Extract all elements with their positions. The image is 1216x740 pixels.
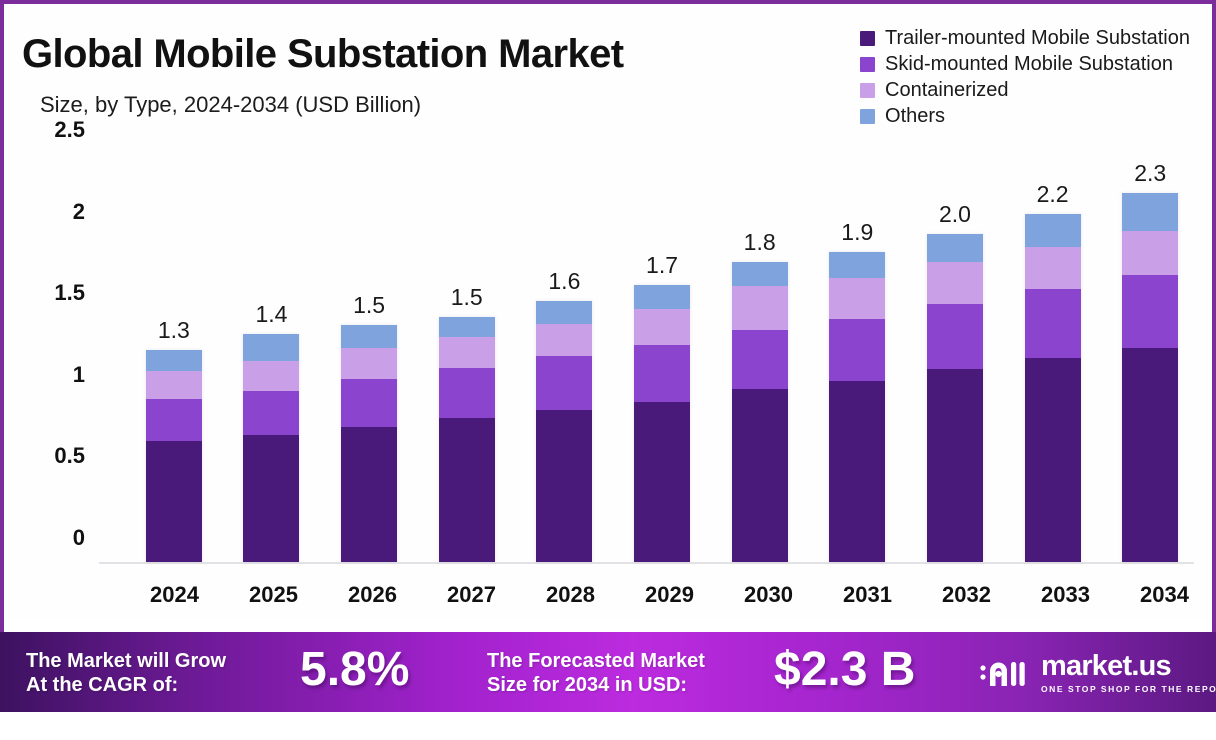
plot-area: 00.511.522.5 1.31.41.51.51.61.71.81.92.0… bbox=[99, 144, 1199, 564]
bar-segment[interactable] bbox=[1122, 193, 1178, 231]
bar-segment[interactable] bbox=[243, 435, 299, 562]
x-axis-label: 2028 bbox=[521, 582, 620, 608]
bar-segment[interactable] bbox=[341, 427, 397, 562]
legend-item-label: Others bbox=[885, 106, 945, 126]
bar-segment[interactable] bbox=[634, 285, 690, 309]
logo-name: market.us bbox=[1041, 652, 1171, 681]
x-axis-label: 2033 bbox=[1016, 582, 1115, 608]
bar-segment[interactable] bbox=[341, 348, 397, 379]
bar-segment[interactable] bbox=[927, 369, 983, 562]
legend-item[interactable]: Containerized bbox=[860, 80, 1008, 100]
stacked-bar[interactable] bbox=[1025, 214, 1081, 562]
bar-segment[interactable] bbox=[829, 252, 885, 278]
legend-swatch-icon bbox=[860, 31, 875, 46]
bar-segment[interactable] bbox=[146, 371, 202, 399]
chart-subtitle: Size, by Type, 2024-2034 (USD Billion) bbox=[40, 92, 421, 118]
cagr-label: The Market will Grow At the CAGR of: bbox=[26, 650, 226, 697]
bar-slot: 1.7 bbox=[613, 144, 711, 562]
bar-segment[interactable] bbox=[341, 379, 397, 426]
bar-segment[interactable] bbox=[146, 399, 202, 441]
bar-segment[interactable] bbox=[927, 304, 983, 369]
x-axis-label: 2027 bbox=[422, 582, 521, 608]
legend-item[interactable]: Others bbox=[860, 106, 945, 126]
market-us-logo[interactable]: market.us ONE STOP SHOP FOR THE REPORTS bbox=[978, 652, 1216, 694]
bar-segment[interactable] bbox=[634, 402, 690, 562]
bar-segment[interactable] bbox=[634, 345, 690, 402]
bar-slot: 2.2 bbox=[1004, 144, 1102, 562]
bar-segment[interactable] bbox=[439, 317, 495, 337]
bar-segment[interactable] bbox=[146, 441, 202, 562]
bar-segment[interactable] bbox=[1025, 247, 1081, 289]
bar-segment[interactable] bbox=[439, 418, 495, 562]
bar-segment[interactable] bbox=[439, 337, 495, 368]
bar-segment[interactable] bbox=[1025, 358, 1081, 562]
bar-total-label: 1.7 bbox=[646, 252, 678, 279]
bar-segment[interactable] bbox=[341, 325, 397, 348]
bar-segment[interactable] bbox=[1025, 289, 1081, 358]
bar-segment[interactable] bbox=[732, 286, 788, 330]
bar-segment[interactable] bbox=[536, 301, 592, 324]
stacked-bar[interactable] bbox=[1122, 193, 1178, 562]
x-axis-line bbox=[99, 562, 1194, 564]
legend-swatch-icon bbox=[860, 57, 875, 72]
bar-total-label: 1.4 bbox=[255, 301, 287, 328]
x-axis-label: 2026 bbox=[323, 582, 422, 608]
x-axis-label: 2031 bbox=[818, 582, 917, 608]
cagr-value: 5.8% bbox=[300, 646, 409, 694]
bar-slot: 1.6 bbox=[516, 144, 614, 562]
market-us-wordmark: market.us ONE STOP SHOP FOR THE REPORTS bbox=[1041, 652, 1216, 694]
y-axis-tick-label: 2.5 bbox=[54, 117, 85, 143]
bar-total-label: 1.3 bbox=[158, 317, 190, 344]
bar-segment[interactable] bbox=[536, 410, 592, 562]
legend-item[interactable]: Trailer-mounted Mobile Substation bbox=[860, 28, 1190, 48]
bar-slot: 1.5 bbox=[418, 144, 516, 562]
y-axis-tick-label: 1 bbox=[73, 362, 85, 388]
stacked-bar[interactable] bbox=[732, 262, 788, 562]
bar-segment[interactable] bbox=[829, 381, 885, 562]
bar-segment[interactable] bbox=[243, 361, 299, 390]
y-axis-tick-label: 0.5 bbox=[54, 443, 85, 469]
y-axis-tick-label: 2 bbox=[73, 199, 85, 225]
forecast-value: $2.3 B bbox=[774, 646, 915, 694]
stacked-bar[interactable] bbox=[829, 252, 885, 562]
stacked-bar[interactable] bbox=[341, 325, 397, 562]
y-axis-tick-label: 1.5 bbox=[54, 280, 85, 306]
bar-segment[interactable] bbox=[439, 368, 495, 419]
x-axis-label: 2030 bbox=[719, 582, 818, 608]
bar-segment[interactable] bbox=[1122, 275, 1178, 348]
chart-legend: Trailer-mounted Mobile SubstationSkid-mo… bbox=[860, 28, 1190, 126]
bar-segment[interactable] bbox=[536, 356, 592, 410]
forecast-label: The Forecasted Market Size for 2034 in U… bbox=[487, 650, 705, 697]
legend-item[interactable]: Skid-mounted Mobile Substation bbox=[860, 54, 1173, 74]
y-axis-tick-label: 0 bbox=[73, 525, 85, 551]
bar-segment[interactable] bbox=[1025, 214, 1081, 247]
bar-total-label: 1.9 bbox=[841, 219, 873, 246]
legend-item-label: Trailer-mounted Mobile Substation bbox=[885, 28, 1190, 48]
bar-total-label: 2.0 bbox=[939, 201, 971, 228]
bar-total-label: 1.8 bbox=[744, 229, 776, 256]
bar-segment[interactable] bbox=[732, 330, 788, 389]
legend-item-label: Skid-mounted Mobile Substation bbox=[885, 54, 1173, 74]
bar-segment[interactable] bbox=[634, 309, 690, 345]
bar-segment[interactable] bbox=[829, 278, 885, 319]
legend-swatch-icon bbox=[860, 109, 875, 124]
x-axis-label: 2025 bbox=[224, 582, 323, 608]
bar-segment[interactable] bbox=[732, 262, 788, 286]
infographic-root: Global Mobile Substation Market Size, by… bbox=[0, 0, 1216, 740]
bar-slot: 1.3 bbox=[125, 144, 223, 562]
bar-slot: 2.0 bbox=[906, 144, 1004, 562]
bar-total-label: 1.5 bbox=[353, 292, 385, 319]
x-axis-label: 2024 bbox=[125, 582, 224, 608]
stacked-bar[interactable] bbox=[927, 234, 983, 562]
logo-tagline: ONE STOP SHOP FOR THE REPORTS bbox=[1041, 684, 1216, 694]
bar-segment[interactable] bbox=[243, 334, 299, 362]
bar-segment[interactable] bbox=[829, 319, 885, 381]
legend-item-label: Containerized bbox=[885, 80, 1008, 100]
bar-slot: 2.3 bbox=[1101, 144, 1199, 562]
x-axis-label: 2029 bbox=[620, 582, 719, 608]
chart-canvas: Global Mobile Substation Market Size, by… bbox=[4, 4, 1212, 620]
stacked-bar[interactable] bbox=[439, 317, 495, 562]
chart-title: Global Mobile Substation Market bbox=[22, 34, 623, 74]
bar-group: 1.31.41.51.51.61.71.81.92.02.22.3 bbox=[125, 144, 1199, 562]
bar-segment[interactable] bbox=[536, 324, 592, 357]
bar-segment[interactable] bbox=[1122, 348, 1178, 562]
bar-total-label: 2.2 bbox=[1037, 181, 1069, 208]
stacked-bar[interactable] bbox=[634, 285, 690, 562]
bar-segment[interactable] bbox=[732, 389, 788, 562]
summary-banner: The Market will Grow At the CAGR of: 5.8… bbox=[0, 632, 1216, 712]
market-us-mark-icon bbox=[978, 656, 1032, 690]
bar-total-label: 1.6 bbox=[548, 268, 580, 295]
stacked-bar[interactable] bbox=[146, 350, 202, 562]
stacked-bar[interactable] bbox=[243, 334, 299, 562]
stacked-bar[interactable] bbox=[536, 301, 592, 562]
bar-total-label: 1.5 bbox=[451, 284, 483, 311]
bar-segment[interactable] bbox=[146, 350, 202, 371]
bar-segment[interactable] bbox=[1122, 231, 1178, 275]
legend-swatch-icon bbox=[860, 83, 875, 98]
x-axis-label: 2032 bbox=[917, 582, 1016, 608]
bar-slot: 1.8 bbox=[711, 144, 809, 562]
bar-segment[interactable] bbox=[927, 262, 983, 304]
bar-slot: 1.5 bbox=[320, 144, 418, 562]
bar-slot: 1.9 bbox=[808, 144, 906, 562]
bar-slot: 1.4 bbox=[223, 144, 321, 562]
x-axis-label: 2034 bbox=[1115, 582, 1214, 608]
x-axis-labels: 2024202520262027202820292030203120322033… bbox=[125, 582, 1214, 608]
bar-segment[interactable] bbox=[927, 234, 983, 262]
bar-segment[interactable] bbox=[243, 391, 299, 435]
bar-total-label: 2.3 bbox=[1134, 160, 1166, 187]
